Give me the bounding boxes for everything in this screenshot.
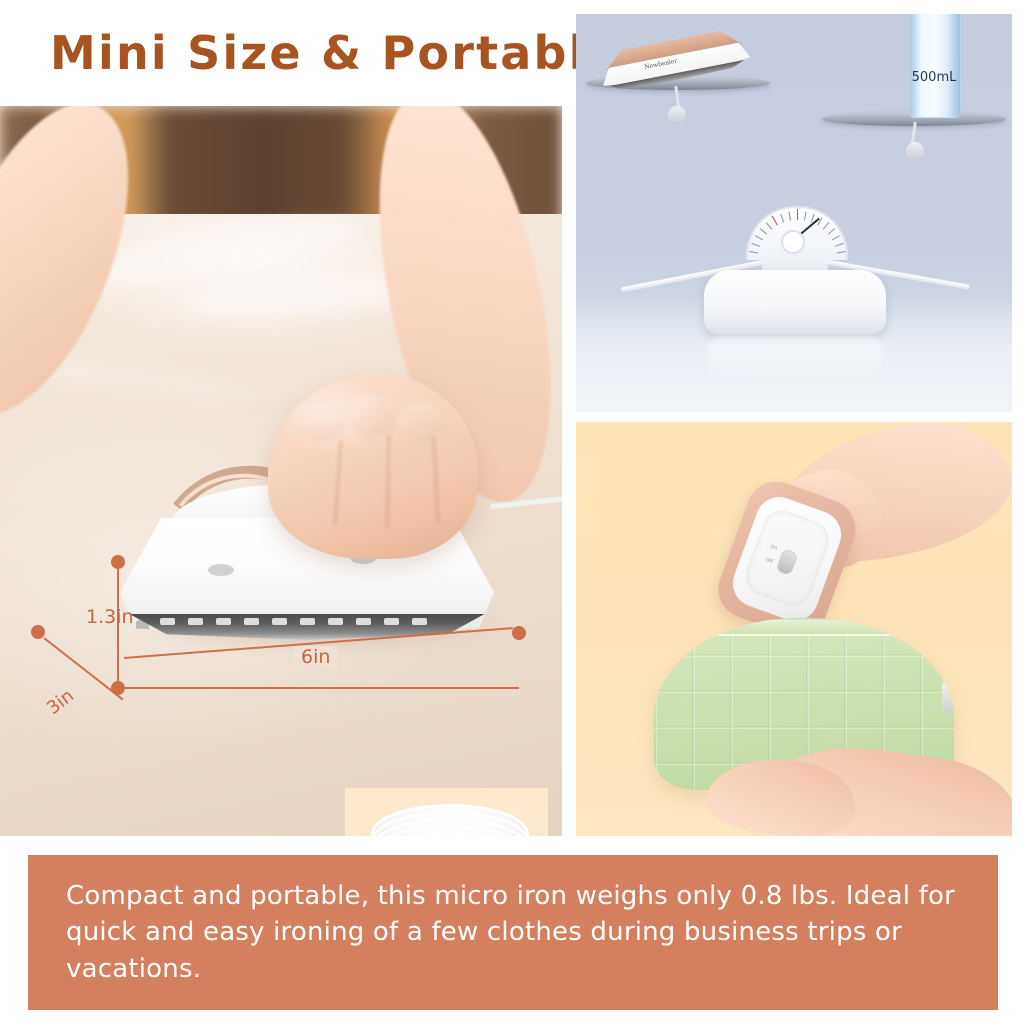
knuckle xyxy=(292,402,346,442)
pouch-zipper xyxy=(698,620,930,636)
steam-vent xyxy=(244,618,259,625)
steam-vent xyxy=(188,618,203,625)
dial-tick-warn xyxy=(772,216,778,226)
dial-tick xyxy=(749,251,758,254)
steam-vent xyxy=(328,618,343,625)
finger-separation xyxy=(333,440,343,526)
dial-tick xyxy=(751,243,760,247)
dial-tick xyxy=(760,228,768,235)
dial-tick xyxy=(788,212,791,221)
caption-band: Compact and portable, this micro iron we… xyxy=(28,855,998,1010)
dial-tick xyxy=(837,251,846,254)
finger-separation xyxy=(385,434,391,528)
pouch-zipper-pull xyxy=(942,680,954,714)
page-title: Mini Size & Portable xyxy=(50,26,620,80)
power-cord-inset: 8FT POWER CORD xyxy=(345,788,548,836)
knuckle xyxy=(396,402,446,442)
steam-vent xyxy=(216,618,231,625)
infographic-canvas: Mini Size & Portable Newbealer xyxy=(0,0,1024,1024)
dial-tick xyxy=(835,243,844,247)
finger-separation xyxy=(432,436,441,524)
steam-vent xyxy=(160,618,175,625)
bottle-volume-label: 500mL xyxy=(906,70,962,85)
pan-knob-left xyxy=(668,106,686,124)
pouch-packing-panel: On Off xyxy=(576,422,1012,836)
caption-text: Compact and portable, this micro iron we… xyxy=(66,878,960,987)
weight-comparison-panel: Newbealer 500mL xyxy=(576,14,1012,412)
steam-vent xyxy=(272,618,287,625)
dial-hub xyxy=(781,230,805,254)
base-reflection xyxy=(708,336,882,380)
dial-tick xyxy=(832,235,840,240)
iron-vent-dot xyxy=(208,564,234,576)
dial-tick xyxy=(780,214,784,223)
bottle-body xyxy=(909,14,961,118)
dial-tick xyxy=(823,222,830,230)
steam-vent xyxy=(412,618,427,625)
dial-tick xyxy=(828,228,836,235)
steam-vent xyxy=(384,618,399,625)
dial-tick xyxy=(766,222,773,230)
water-bottle-500ml: 500mL xyxy=(906,14,962,126)
steam-vent xyxy=(356,618,371,625)
hero-photo: Newbealer xyxy=(0,106,562,836)
pan-knob-right xyxy=(906,142,924,160)
coiled-cord-icon xyxy=(371,804,523,836)
title-bar: Mini Size & Portable xyxy=(0,0,560,106)
dial-tick-center xyxy=(797,209,798,220)
steam-vent xyxy=(300,618,315,625)
dial-tick xyxy=(755,235,763,240)
knuckle xyxy=(346,394,398,436)
dial-tick xyxy=(804,212,807,221)
balance-base xyxy=(704,270,886,334)
